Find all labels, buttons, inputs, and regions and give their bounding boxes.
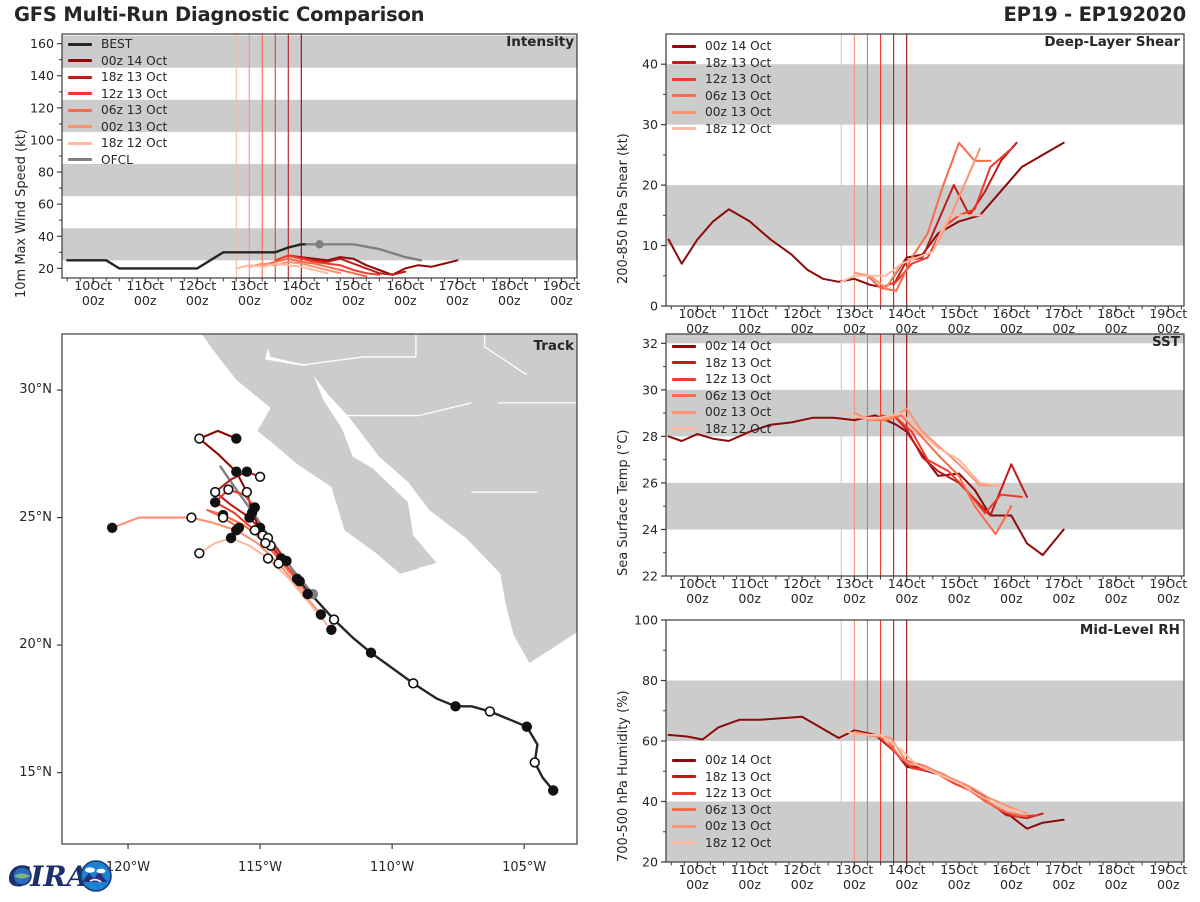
legend-label: 06z 13 Oct bbox=[101, 103, 167, 117]
track-marker-open bbox=[264, 554, 273, 563]
legend-swatch bbox=[672, 792, 696, 795]
panel-intensity: 10m Max Wind Speed (kt) 2040608010012014… bbox=[0, 26, 590, 316]
lat-tick-label: 25°N bbox=[0, 510, 52, 525]
y-band bbox=[666, 483, 1184, 530]
legend-label: 00z 13 Oct bbox=[101, 120, 167, 134]
track-marker-open bbox=[261, 539, 270, 548]
rh-xticks: 10Oct00z11Oct00z12Oct00z13Oct00z14Oct00z… bbox=[600, 862, 1200, 902]
lon-tick-label: 105°W bbox=[489, 860, 559, 875]
legend-label: 00z 14 Oct bbox=[705, 39, 771, 53]
legend-label: 00z 14 Oct bbox=[705, 753, 771, 767]
legend-item: 18z 13 Oct bbox=[672, 355, 771, 372]
intensity-title: Intensity bbox=[506, 34, 574, 50]
x-tick-label: 17Oct00z bbox=[1037, 862, 1091, 892]
legend-swatch bbox=[672, 411, 696, 414]
lat-tick-label: 30°N bbox=[0, 382, 52, 397]
legend-label: 06z 13 Oct bbox=[705, 89, 771, 103]
legend-item: 06z 13 Oct bbox=[672, 88, 771, 105]
y-tick-label: 20 bbox=[38, 261, 54, 276]
legend-item: 06z 13 Oct bbox=[672, 388, 771, 405]
track-marker-filled bbox=[316, 610, 325, 619]
legend-swatch bbox=[672, 775, 696, 778]
legend-item: 00z 13 Oct bbox=[68, 119, 167, 136]
legend-item: OFCL bbox=[68, 152, 167, 169]
track-marker-filled bbox=[303, 590, 312, 599]
legend-item: 00z 13 Oct bbox=[672, 818, 771, 835]
y-tick-label: 100 bbox=[30, 132, 54, 147]
ofcl-marker bbox=[315, 240, 323, 248]
legend-item: 12z 13 Oct bbox=[672, 371, 771, 388]
legend-item: 12z 13 Oct bbox=[672, 71, 771, 88]
y-tick-label: 60 bbox=[642, 734, 658, 749]
y-tick-label: 24 bbox=[642, 522, 658, 537]
track-marker-filled bbox=[211, 498, 220, 507]
legend-swatch bbox=[672, 841, 696, 844]
track-title: Track bbox=[534, 338, 574, 354]
track-marker-filled bbox=[245, 513, 254, 522]
track-marker-open bbox=[242, 488, 251, 497]
track-marker-filled bbox=[250, 503, 259, 512]
legend-swatch bbox=[672, 61, 696, 64]
track-marker-filled bbox=[232, 467, 241, 476]
legend-label: 18z 12 Oct bbox=[705, 422, 771, 436]
legend-swatch bbox=[68, 142, 92, 145]
lat-tick-label: 20°N bbox=[0, 637, 52, 652]
track-marker-open bbox=[195, 549, 204, 558]
legend-item: 18z 13 Oct bbox=[672, 55, 771, 72]
y-band bbox=[62, 164, 577, 196]
legend-label: 12z 13 Oct bbox=[705, 786, 771, 800]
legend-label: 18z 12 Oct bbox=[705, 836, 771, 850]
legend-item: 18z 12 Oct bbox=[672, 421, 771, 438]
legend-swatch bbox=[68, 125, 92, 128]
x-tick-label: 19Oct00z bbox=[1141, 862, 1195, 892]
legend-label: 00z 14 Oct bbox=[101, 54, 167, 68]
legend-item: 00z 14 Oct bbox=[672, 38, 771, 55]
track-marker-open bbox=[211, 488, 220, 497]
legend-swatch bbox=[68, 158, 92, 161]
legend-swatch bbox=[672, 127, 696, 130]
track-marker-filled bbox=[549, 786, 558, 795]
legend-label: 06z 13 Oct bbox=[705, 803, 771, 817]
legend-item: 06z 13 Oct bbox=[672, 802, 771, 819]
legend-swatch bbox=[68, 92, 92, 95]
legend-label: 18z 13 Oct bbox=[705, 56, 771, 70]
storm-id: EP19 - EP192020 bbox=[1004, 3, 1186, 26]
legend-swatch bbox=[68, 43, 92, 46]
legend-item: 00z 13 Oct bbox=[672, 404, 771, 421]
legend-swatch bbox=[672, 111, 696, 114]
track-marker-open bbox=[530, 758, 539, 767]
y-tick-label: 10 bbox=[642, 238, 658, 253]
legend-label: OFCL bbox=[101, 153, 133, 167]
track-marker-filled bbox=[327, 625, 336, 634]
cira-logo: CIRA bbox=[6, 856, 116, 898]
page-title: GFS Multi-Run Diagnostic Comparison bbox=[14, 3, 424, 26]
track-marker-open bbox=[219, 513, 228, 522]
x-tick-label: 10Oct00z bbox=[66, 278, 120, 308]
legend-label: 00z 13 Oct bbox=[705, 819, 771, 833]
legend-label: BEST bbox=[101, 37, 132, 51]
legend-item: 18z 13 Oct bbox=[672, 769, 771, 786]
y-tick-label: 160 bbox=[30, 36, 54, 51]
legend-swatch bbox=[672, 759, 696, 762]
legend-item: 18z 12 Oct bbox=[672, 835, 771, 852]
legend-label: 12z 13 Oct bbox=[705, 72, 771, 86]
y-tick-label: 80 bbox=[642, 673, 658, 688]
x-tick-label: 16Oct00z bbox=[378, 278, 432, 308]
x-tick-label: 18Oct00z bbox=[482, 278, 536, 308]
legend-item: 00z 14 Oct bbox=[672, 338, 771, 355]
legend-item: 06z 13 Oct bbox=[68, 102, 167, 119]
x-tick-label: 12Oct00z bbox=[775, 862, 829, 892]
track-marker-open bbox=[485, 707, 494, 716]
x-tick-label: 19Oct00z bbox=[534, 278, 588, 308]
legend-item: 00z 14 Oct bbox=[68, 53, 167, 70]
legend-swatch bbox=[672, 808, 696, 811]
x-tick-label: 10Oct00z bbox=[670, 862, 724, 892]
y-tick-label: 32 bbox=[642, 336, 658, 351]
track-marker-filled bbox=[108, 523, 117, 532]
track-marker-open bbox=[409, 679, 418, 688]
legend-item: BEST bbox=[68, 36, 167, 53]
panel-rh: 700-500 hPa Humidity (%) 20406080100 Mid… bbox=[600, 600, 1200, 900]
y-tick-label: 26 bbox=[642, 475, 658, 490]
intensity-legend: BEST00z 14 Oct18z 13 Oct12z 13 Oct06z 13… bbox=[68, 36, 167, 168]
track-marker-filled bbox=[522, 722, 531, 731]
x-tick-label: 18Oct00z bbox=[1089, 862, 1143, 892]
y-tick-label: 40 bbox=[642, 57, 658, 72]
shear-title: Deep-Layer Shear bbox=[1044, 34, 1180, 50]
rh-legend: 00z 14 Oct18z 13 Oct12z 13 Oct06z 13 Oct… bbox=[672, 752, 771, 851]
legend-label: 12z 13 Oct bbox=[705, 372, 771, 386]
y-tick-label: 120 bbox=[30, 100, 54, 115]
series-line bbox=[236, 264, 327, 274]
legend-item: 00z 13 Oct bbox=[672, 104, 771, 121]
track-marker-filled bbox=[293, 574, 302, 583]
legend-item: 12z 13 Oct bbox=[68, 86, 167, 103]
sst-legend: 00z 14 Oct18z 13 Oct12z 13 Oct06z 13 Oct… bbox=[672, 338, 771, 437]
rh-title: Mid-Level RH bbox=[1080, 622, 1180, 638]
y-tick-label: 100 bbox=[634, 613, 658, 628]
shear-legend: 00z 14 Oct18z 13 Oct12z 13 Oct06z 13 Oct… bbox=[672, 38, 771, 137]
x-tick-label: 11Oct00z bbox=[118, 278, 172, 308]
sst-title: SST bbox=[1152, 334, 1180, 350]
y-tick-label: 20 bbox=[642, 178, 658, 193]
track-marker-open bbox=[187, 513, 196, 522]
panel-sst: Sea Surface Temp (°C) 222426283032 SST 0… bbox=[600, 326, 1200, 616]
y-tick-label: 40 bbox=[642, 794, 658, 809]
y-tick-label: 140 bbox=[30, 68, 54, 83]
track-marker-open bbox=[330, 615, 339, 624]
x-tick-label: 14Oct00z bbox=[880, 862, 934, 892]
legend-swatch bbox=[672, 345, 696, 348]
y-tick-label: 40 bbox=[38, 229, 54, 244]
track-marker-filled bbox=[232, 434, 241, 443]
y-tick-label: 30 bbox=[642, 117, 658, 132]
x-tick-label: 14Oct00z bbox=[274, 278, 328, 308]
legend-swatch bbox=[672, 78, 696, 81]
track-marker-filled bbox=[227, 534, 236, 543]
y-tick-label: 30 bbox=[642, 382, 658, 397]
x-tick-label: 15Oct00z bbox=[932, 862, 986, 892]
legend-label: 00z 13 Oct bbox=[705, 405, 771, 419]
x-tick-label: 12Oct00z bbox=[170, 278, 224, 308]
legend-swatch bbox=[672, 825, 696, 828]
y-tick-label: 28 bbox=[642, 429, 658, 444]
legend-label: 18z 13 Oct bbox=[705, 770, 771, 784]
legend-label: 18z 13 Oct bbox=[101, 70, 167, 84]
legend-label: 18z 12 Oct bbox=[705, 122, 771, 136]
x-tick-label: 15Oct00z bbox=[326, 278, 380, 308]
legend-label: 18z 13 Oct bbox=[705, 356, 771, 370]
x-tick-label: 17Oct00z bbox=[430, 278, 484, 308]
legend-swatch bbox=[68, 59, 92, 62]
panel-track: Track 30°N25°N20°N15°N 120°W115°W110°W10… bbox=[0, 326, 590, 886]
track-marker-open bbox=[250, 526, 259, 535]
x-tick-label: 16Oct00z bbox=[984, 862, 1038, 892]
x-tick-label: 13Oct00z bbox=[827, 862, 881, 892]
x-tick-label: 13Oct00z bbox=[222, 278, 276, 308]
track-marker-open bbox=[224, 485, 233, 494]
legend-label: 00z 13 Oct bbox=[705, 105, 771, 119]
y-tick-label: 60 bbox=[38, 197, 54, 212]
legend-swatch bbox=[672, 427, 696, 430]
track-yticks: 30°N25°N20°N15°N bbox=[0, 326, 62, 886]
legend-item: 18z 12 Oct bbox=[68, 135, 167, 152]
legend-swatch bbox=[672, 378, 696, 381]
lat-tick-label: 15°N bbox=[0, 765, 52, 780]
track-marker-filled bbox=[367, 648, 376, 657]
legend-label: 18z 12 Oct bbox=[101, 136, 167, 150]
legend-label: 06z 13 Oct bbox=[705, 389, 771, 403]
legend-swatch bbox=[68, 109, 92, 112]
lon-tick-label: 110°W bbox=[357, 860, 427, 875]
y-tick-label: 80 bbox=[38, 165, 54, 180]
y-band bbox=[666, 681, 1184, 742]
x-tick-label: 11Oct00z bbox=[723, 862, 777, 892]
track-marker-filled bbox=[451, 702, 460, 711]
legend-item: 18z 12 Oct bbox=[672, 121, 771, 138]
legend-swatch bbox=[672, 45, 696, 48]
legend-swatch bbox=[68, 76, 92, 79]
legend-item: 00z 14 Oct bbox=[672, 752, 771, 769]
track-marker-open bbox=[274, 559, 283, 568]
legend-item: 12z 13 Oct bbox=[672, 785, 771, 802]
legend-swatch bbox=[672, 394, 696, 397]
lon-tick-label: 115°W bbox=[225, 860, 295, 875]
legend-label: 00z 14 Oct bbox=[705, 339, 771, 353]
legend-swatch bbox=[672, 94, 696, 97]
panel-shear: 200-850 hPa Shear (kt) 010203040 Deep-La… bbox=[600, 26, 1200, 316]
track-marker-open bbox=[256, 472, 265, 481]
legend-item: 18z 13 Oct bbox=[68, 69, 167, 86]
intensity-xticks: 10Oct00z11Oct00z12Oct00z13Oct00z14Oct00z… bbox=[0, 278, 590, 318]
legend-swatch bbox=[672, 361, 696, 364]
track-marker-open bbox=[195, 434, 204, 443]
legend-label: 12z 13 Oct bbox=[101, 87, 167, 101]
track-marker-filled bbox=[242, 467, 251, 476]
